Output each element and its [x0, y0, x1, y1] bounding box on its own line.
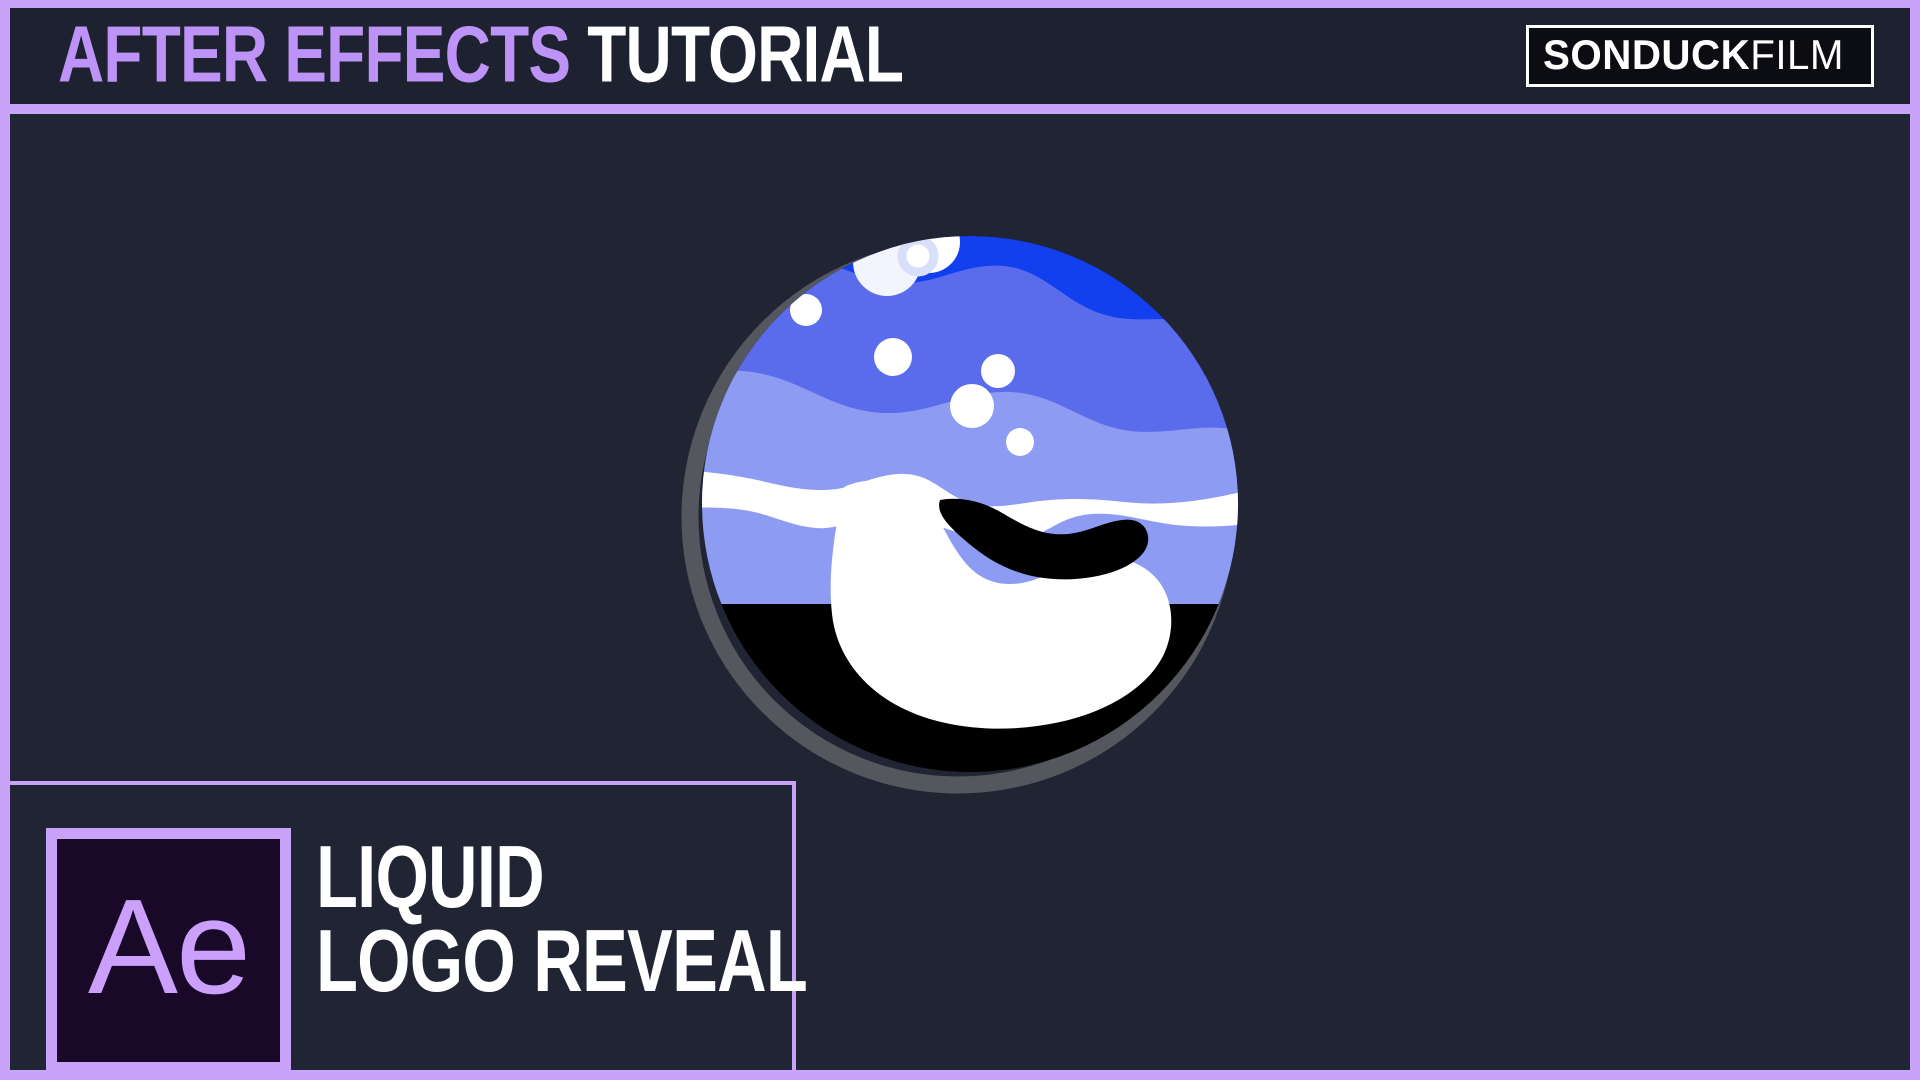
bubble-icon — [981, 354, 1015, 388]
bubble-icon — [1006, 428, 1034, 456]
tutorial-title-line-2: LOGO REVEAL — [316, 919, 807, 1003]
tutorial-title-line-1: LIQUID — [316, 835, 807, 919]
title-plain-text: TUTORIAL — [587, 9, 903, 98]
bubble-icon — [950, 384, 994, 428]
brand-bold-part: SONDUCK — [1543, 31, 1750, 78]
brand-logo-text: SONDUCKFILM — [1543, 34, 1844, 76]
after-effects-app-icon[interactable]: Ae — [46, 828, 291, 1070]
thumbnail-canvas: AFTER EFFECTS TUTORIAL SONDUCKFILM — [0, 0, 1920, 1080]
lower-title-box: Ae LIQUID LOGO REVEAL — [10, 781, 796, 1070]
liquid-logo-graphic — [640, 184, 1300, 864]
bubble-icon — [874, 338, 912, 376]
page-title: AFTER EFFECTS TUTORIAL — [58, 14, 903, 94]
header-bar: AFTER EFFECTS TUTORIAL SONDUCKFILM — [10, 8, 1910, 104]
brand-logo[interactable]: SONDUCKFILM — [1526, 25, 1874, 87]
after-effects-icon-inner: Ae — [53, 835, 284, 1066]
header-divider-rule — [0, 104, 1920, 114]
brand-light-part: FILM — [1751, 31, 1845, 78]
after-effects-icon-label: Ae — [88, 879, 249, 1014]
main-stage: Ae LIQUID LOGO REVEAL — [10, 114, 1910, 1070]
title-accent-text: AFTER EFFECTS — [58, 9, 570, 98]
liquid-logo-svg — [640, 184, 1300, 864]
tutorial-title-lines: LIQUID LOGO REVEAL — [316, 835, 946, 1004]
